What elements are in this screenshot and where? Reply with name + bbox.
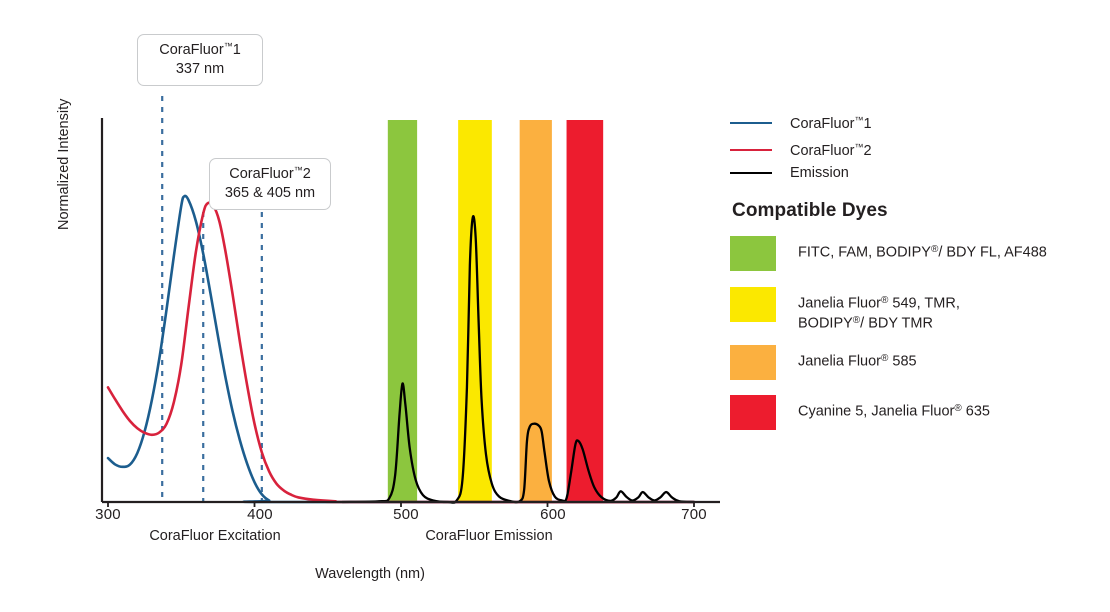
dye-row-orange: Janelia Fluor® 585 (730, 345, 917, 380)
compatible-dyes-heading: Compatible Dyes (732, 200, 888, 222)
legend-curve-corafluor2: CoraFluor™2 (730, 141, 872, 159)
legend-line-swatch-corafluor1 (730, 122, 772, 124)
legend-curve-label-emission: Emission (790, 165, 849, 181)
legend-curve-corafluor1: CoraFluor™1 (730, 114, 872, 132)
dye-swatch-red (730, 395, 776, 430)
dye-row-red: Cyanine 5, Janelia Fluor® 635 (730, 395, 990, 430)
dye-row-green: FITC, FAM, BODIPY®/ BDY FL, AF488 (730, 236, 1047, 271)
callout-corafluor2-title: CoraFluor™2 (222, 165, 318, 184)
dye-label-yellow: Janelia Fluor® 549, TMR, BODIPY®/ BDY TM… (798, 287, 960, 333)
legend-line-swatch-corafluor2 (730, 149, 772, 151)
dye-swatch-green (730, 236, 776, 271)
dye-label-green: FITC, FAM, BODIPY®/ BDY FL, AF488 (798, 236, 1047, 263)
dye-swatch-yellow (730, 287, 776, 322)
red-band (567, 120, 604, 502)
legend-panel: CoraFluor™1 CoraFluor™2 Emission Compati… (728, 0, 1110, 612)
callout-corafluor1-title: CoraFluor™1 (150, 41, 250, 60)
x-axis-title: Wavelength (nm) (0, 566, 740, 582)
yellow-band (458, 120, 492, 502)
caption-excitation: CoraFluor Excitation (140, 528, 290, 544)
legend-curve-label-corafluor1: CoraFluor™1 (790, 115, 872, 132)
legend-curve-label-corafluor2: CoraFluor™2 (790, 142, 872, 159)
legend-line-swatch-emission (730, 172, 772, 174)
plot-area: 300 400 500 600 700 CoraFluor Excitation… (0, 0, 740, 612)
dye-label-red: Cyanine 5, Janelia Fluor® 635 (798, 395, 990, 422)
callout-corafluor1: CoraFluor™1 337 nm (137, 34, 263, 86)
spectra-figure: 300 400 500 600 700 CoraFluor Excitation… (0, 0, 1110, 612)
x-tick-600: 600 (523, 506, 583, 523)
callout-corafluor2: CoraFluor™2 365 & 405 nm (209, 158, 331, 210)
legend-curve-emission: Emission (730, 164, 849, 182)
y-axis-title: Normalized Intensity (56, 40, 72, 230)
orange-band (520, 120, 552, 502)
dye-swatch-orange (730, 345, 776, 380)
x-tick-400: 400 (230, 506, 290, 523)
callout-corafluor2-value: 365 & 405 nm (222, 184, 318, 203)
caption-emission: CoraFluor Emission (414, 528, 564, 544)
dye-label-orange: Janelia Fluor® 585 (798, 345, 917, 372)
callout-corafluor1-value: 337 nm (150, 60, 250, 79)
green-band (388, 120, 417, 502)
dye-row-yellow: Janelia Fluor® 549, TMR, BODIPY®/ BDY TM… (730, 287, 960, 333)
x-tick-700: 700 (664, 506, 724, 523)
x-tick-500: 500 (376, 506, 436, 523)
x-tick-300: 300 (78, 506, 138, 523)
